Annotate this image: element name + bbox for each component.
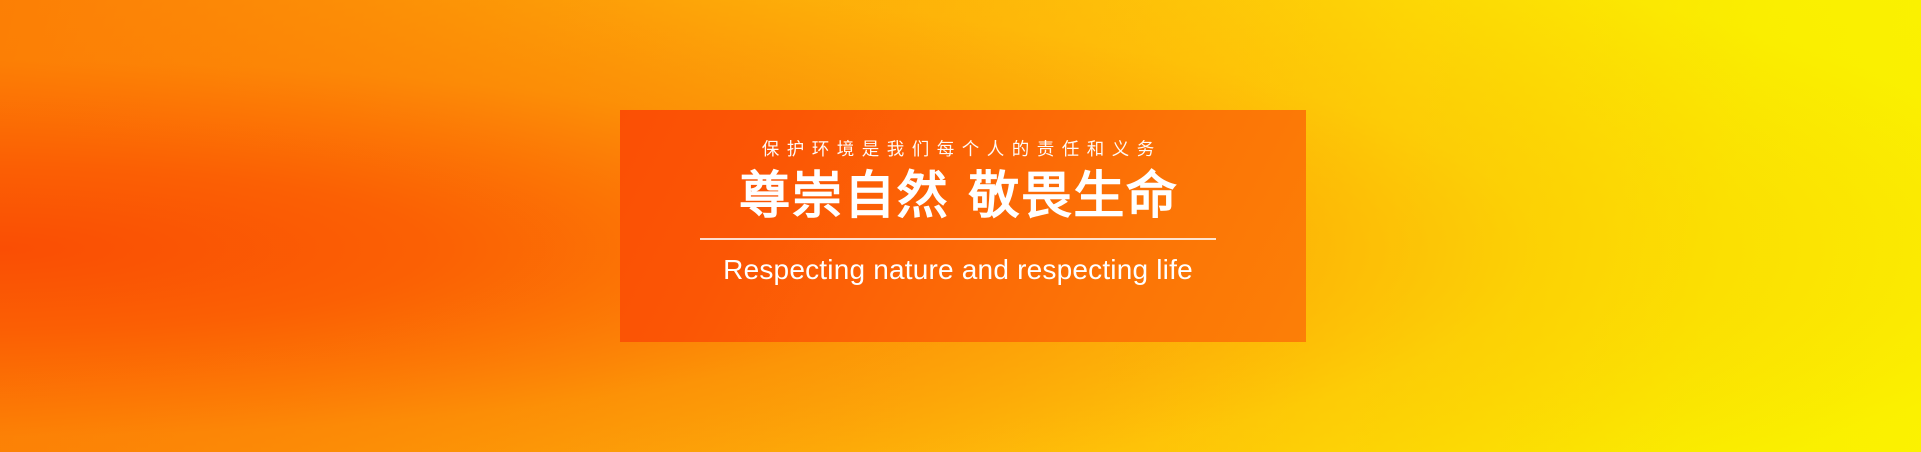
slogan-card-content: 保护环境是我们每个人的责任和义务 尊崇自然 敬畏生命 Respecting na… (700, 140, 1216, 286)
subline-text: Respecting nature and respecting life (700, 254, 1216, 285)
slogan-card: 保护环境是我们每个人的责任和义务 尊崇自然 敬畏生命 Respecting na… (620, 110, 1306, 342)
divider-rule (700, 238, 1216, 240)
headline-text: 尊崇自然 敬畏生命 (700, 168, 1216, 226)
kicker-text: 保护环境是我们每个人的责任和义务 (700, 140, 1216, 159)
promo-banner: 保护环境是我们每个人的责任和义务 尊崇自然 敬畏生命 Respecting na… (0, 0, 1921, 452)
